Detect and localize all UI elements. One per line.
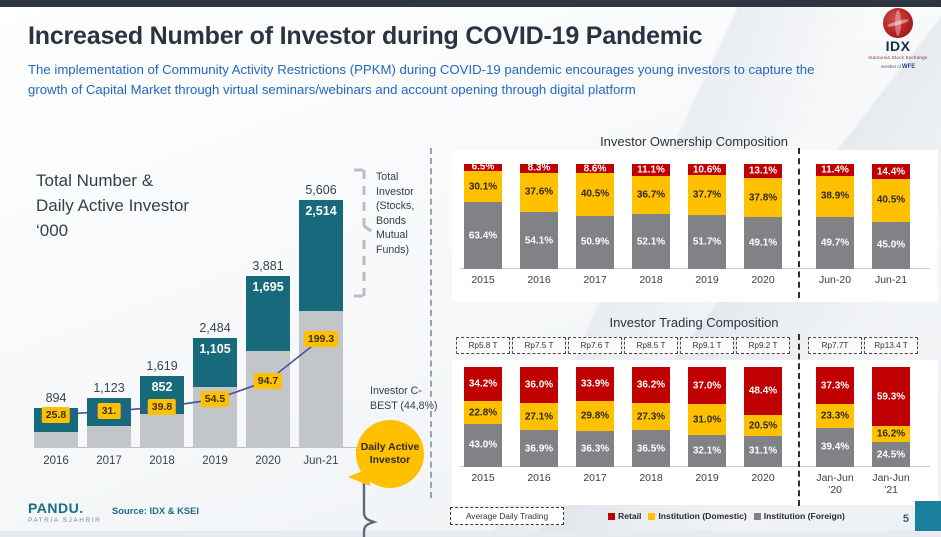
segment-value-institution-foreign: 39.4% — [816, 442, 854, 453]
bar-value-teal: 2,514 — [299, 204, 343, 218]
trading-chart-panel: 34.2%22.8%43.0%2015Rp5.8 T36.0%27.1%36.9… — [452, 360, 938, 505]
bar-segment-grey — [140, 414, 184, 448]
x-axis-label: 2019 — [676, 274, 738, 286]
segment-value-retail: 33.9% — [576, 378, 614, 389]
page-subtitle: The implementation of Community Activity… — [28, 60, 840, 100]
daily-active-value-2018: 39.8 — [148, 399, 176, 415]
daily-active-value-2016: 25.8 — [42, 407, 70, 423]
globe-icon — [883, 8, 913, 38]
brace-total-investor — [352, 168, 378, 298]
segment-value-institution-domestic: 23.3% — [816, 410, 854, 421]
x-axis-label: 2015 — [452, 472, 514, 484]
segment-institution-domestic: 36.7% — [632, 176, 670, 215]
segment-institution-foreign: 36.5% — [632, 430, 670, 467]
stacked-bar-jan-jun-20: 37.3%23.3%39.4%Jan-Jun’20 — [816, 367, 854, 467]
segment-value-institution-domestic: 27.1% — [520, 411, 558, 422]
source-note: Source: IDX & KSEI — [112, 505, 199, 516]
segment-institution-domestic: 22.8% — [464, 401, 502, 424]
segment-value-institution-foreign: 52.1% — [632, 236, 670, 247]
segment-retail: 8.6% — [576, 164, 614, 173]
segment-institution-foreign: 31.1% — [744, 436, 782, 467]
segment-institution-domestic: 37.7% — [688, 175, 726, 215]
legend-item-institution-foreign: Institution (Foreign) — [754, 511, 845, 521]
x-axis-label-line: 2017 — [564, 472, 626, 484]
segment-value-institution-domestic: 37.6% — [520, 187, 558, 198]
segment-retail: 36.2% — [632, 367, 670, 403]
corner-accent-block — [915, 501, 941, 531]
segment-value-retail: 37.3% — [816, 380, 854, 391]
segment-institution-foreign: 49.7% — [816, 217, 854, 269]
daily-active-value-jun-21: 199.3 — [304, 331, 338, 347]
segment-institution-domestic: 16.2% — [872, 426, 910, 442]
x-axis-label: 2018 — [132, 455, 192, 467]
bar-total-label: 1,123 — [79, 381, 139, 395]
segment-value-institution-foreign: 36.3% — [576, 443, 614, 454]
segment-institution-foreign: 45.0% — [872, 222, 910, 269]
stacked-bar-2020: 48.4%20.5%31.1%2020 — [744, 367, 782, 467]
ownership-chart-panel: 6.5%30.1%63.4%20158.3%37.6%54.1%20168.6%… — [452, 150, 938, 302]
segment-value-institution-domestic: 22.8% — [464, 407, 502, 418]
left-bar-jun-21: 5,6062,514Jun-21 — [299, 200, 343, 448]
x-axis-label: 2017 — [79, 455, 139, 467]
segment-value-institution-domestic: 29.8% — [576, 410, 614, 421]
segment-value-retail: 13.1% — [744, 165, 782, 176]
segment-retail: 36.0% — [520, 367, 558, 403]
stacked-bar-2015: 6.5%30.1%63.4%2015 — [464, 164, 502, 269]
ownership-chart-title: Investor Ownership Composition — [449, 134, 939, 149]
total-number-chart: Total Number & Daily Active Investor ‘00… — [18, 150, 422, 490]
wfe-logo-text: WFE — [902, 64, 915, 70]
segment-value-retail: 48.4% — [744, 386, 782, 397]
segment-institution-foreign: 36.9% — [520, 430, 558, 467]
daily-active-investor-bubble: Daily Active Investor — [356, 420, 424, 488]
segment-retail: 59.3% — [872, 367, 910, 426]
bar-segment-grey — [87, 426, 131, 448]
avg-daily-trading-value-2018: Rp8.5 T — [624, 337, 678, 354]
stacked-bar-2015: 34.2%22.8%43.0%2015 — [464, 367, 502, 467]
top-accent-bar — [0, 0, 941, 7]
bar-total-label: 5,606 — [291, 183, 351, 197]
segment-institution-domestic: 31.0% — [688, 404, 726, 435]
bar-value-teal: 1,695 — [246, 280, 290, 294]
wfe-member-label: member of — [881, 64, 901, 69]
segment-institution-foreign: 36.3% — [576, 431, 614, 467]
bar-total-label: 3,881 — [238, 259, 298, 273]
segment-institution-domestic: 40.5% — [576, 173, 614, 216]
bar-total-label: 2,484 — [185, 321, 245, 335]
x-axis-label: 2015 — [452, 274, 514, 286]
x-axis-label: 2016 — [508, 472, 570, 484]
legend-label-retail: Retail — [618, 511, 641, 521]
segment-value-institution-foreign: 49.1% — [744, 238, 782, 249]
segment-institution-foreign: 63.4% — [464, 202, 502, 269]
bottom-accent-bar — [0, 531, 941, 537]
bar-total-label: 1,619 — [132, 359, 192, 373]
avg-daily-trading-value-2016: Rp7.5 T — [512, 337, 566, 354]
segment-institution-domestic: 30.1% — [464, 171, 502, 203]
legend-label-institution-foreign: Institution (Foreign) — [764, 511, 845, 521]
segment-value-institution-domestic: 30.1% — [464, 181, 502, 192]
segment-retail: 10.6% — [688, 164, 726, 175]
callout-total-investor: Total Investor (Stocks, Bonds Mutual Fun… — [376, 170, 436, 257]
segment-value-retail: 36.0% — [520, 380, 558, 391]
pandu-logo: PANDU. PATRIA SJAHRIR — [28, 500, 101, 524]
pandu-wordmark: PANDU. — [28, 500, 101, 516]
segment-retail: 11.1% — [632, 164, 670, 176]
x-axis-label: Jun-21 — [860, 274, 922, 286]
stacked-bar-jun-21: 14.4%40.5%45.0%Jun-21 — [872, 164, 910, 269]
segment-institution-domestic: 23.3% — [816, 404, 854, 427]
x-axis-label-line: ’20 — [804, 484, 866, 496]
segment-value-retail: 11.1% — [632, 164, 670, 175]
x-axis-label: 2017 — [564, 472, 626, 484]
stacked-bar-2019: 10.6%37.7%51.7%2019 — [688, 164, 726, 269]
segment-value-retail: 37.0% — [688, 380, 726, 391]
segment-institution-domestic: 37.6% — [520, 173, 558, 212]
x-axis-label-line: 2020 — [732, 472, 794, 484]
segment-institution-domestic: 27.3% — [632, 403, 670, 430]
x-axis-label: 2020 — [732, 472, 794, 484]
segment-value-retail: 34.2% — [464, 379, 502, 390]
segment-value-institution-domestic: 27.3% — [632, 411, 670, 422]
bar-segment-teal: 1,695 — [246, 276, 290, 351]
stacked-bar-2018: 36.2%27.3%36.5%2018 — [632, 367, 670, 467]
x-axis-label-line: ’21 — [860, 484, 922, 496]
x-axis-label-line: 2018 — [620, 472, 682, 484]
legend-swatch-retail — [608, 513, 615, 520]
segment-retail: 37.3% — [816, 367, 854, 404]
segment-value-retail: 10.6% — [688, 164, 726, 175]
x-axis-label: 2019 — [185, 455, 245, 467]
avg-daily-trading-value-2019: Rp9.1 T — [680, 337, 734, 354]
avg-daily-trading-value-2017: Rp7.6 T — [568, 337, 622, 354]
vertical-dashed-divider — [430, 148, 432, 498]
segment-institution-foreign: 51.7% — [688, 215, 726, 269]
segment-value-institution-foreign: 24.5% — [872, 449, 910, 460]
stacked-bar-2016: 8.3%37.6%54.1%2016 — [520, 164, 558, 269]
bar-total-label: 894 — [26, 391, 86, 405]
segment-value-institution-foreign: 43.0% — [464, 440, 502, 451]
x-axis-label: Jan-Jun’21 — [860, 472, 922, 496]
wfe-member-mark: member of WFE — [867, 63, 929, 71]
period-separator — [798, 334, 800, 506]
segment-value-institution-domestic: 20.5% — [744, 420, 782, 431]
stacked-bar-2017: 33.9%29.8%36.3%2017 — [576, 367, 614, 467]
segment-value-institution-domestic: 36.7% — [632, 189, 670, 200]
page-number: 5 — [903, 513, 909, 525]
avg-daily-trading-value-2020: Rp9.2 T — [736, 337, 790, 354]
stacked-bar-2018: 11.1%36.7%52.1%2018 — [632, 164, 670, 269]
segment-institution-foreign: 50.9% — [576, 216, 614, 269]
segment-value-institution-domestic: 31.0% — [688, 414, 726, 425]
segment-retail: 48.4% — [744, 367, 782, 415]
x-axis-label: 2020 — [732, 274, 794, 286]
legend-item-institution-domestic: Institution (Domestic) — [648, 511, 746, 521]
x-axis-label: 2016 — [26, 455, 86, 467]
segment-retail: 11.4% — [816, 164, 854, 176]
x-axis-label: 2018 — [620, 274, 682, 286]
x-axis-label: Jan-Jun’20 — [804, 472, 866, 496]
segment-institution-foreign: 43.0% — [464, 424, 502, 467]
segment-retail: 34.2% — [464, 367, 502, 401]
legend-item-retail: Retail — [608, 511, 641, 521]
idx-wordmark: IDX — [867, 38, 929, 54]
stacked-bar-2019: 37.0%31.0%32.1%2019 — [688, 367, 726, 467]
legend-swatch-institution-foreign — [754, 513, 761, 520]
segment-value-institution-foreign: 36.9% — [520, 443, 558, 454]
segment-retail: 8.3% — [520, 164, 558, 173]
segment-value-institution-domestic: 16.2% — [872, 429, 910, 440]
trading-chart-legend: Retail Institution (Domestic) Institutio… — [608, 511, 845, 521]
segment-value-institution-foreign: 54.1% — [520, 235, 558, 246]
segment-retail: 13.1% — [744, 164, 782, 178]
segment-institution-foreign: 52.1% — [632, 214, 670, 269]
segment-value-institution-foreign: 36.5% — [632, 443, 670, 454]
segment-value-institution-domestic: 38.9% — [816, 191, 854, 202]
x-axis-label: 2018 — [620, 472, 682, 484]
segment-institution-foreign: 24.5% — [872, 442, 910, 467]
avg-daily-trading-value-2015: Rp5.8 T — [456, 337, 510, 354]
x-axis-label: 2017 — [564, 274, 626, 286]
x-axis-label: 2016 — [508, 274, 570, 286]
segment-institution-foreign: 54.1% — [520, 212, 558, 269]
idx-tagline: Indonesia Stock Exchange — [867, 54, 929, 61]
segment-value-institution-domestic: 37.7% — [688, 189, 726, 200]
x-axis-label-line: Jan-Jun — [804, 472, 866, 484]
bar-segment-teal: 2,514 — [299, 200, 343, 311]
bar-segment-teal: 1,105 — [193, 338, 237, 387]
bar-value-teal: 1,105 — [193, 342, 237, 356]
x-axis-label: Jun-21 — [291, 455, 351, 467]
segment-institution-domestic: 20.5% — [744, 415, 782, 436]
segment-value-institution-foreign: 31.1% — [744, 446, 782, 457]
pandu-subtitle: PATRIA SJAHRIR — [28, 517, 101, 524]
segment-retail: 33.9% — [576, 367, 614, 401]
page-title: Increased Number of Investor during COVI… — [28, 22, 828, 51]
idx-logo: IDX Indonesia Stock Exchange member of W… — [867, 8, 929, 74]
slide-canvas: Increased Number of Investor during COVI… — [0, 0, 941, 537]
segment-institution-domestic: 40.5% — [872, 179, 910, 222]
segment-value-retail: 59.3% — [872, 391, 910, 402]
average-daily-trading-note: Average Daily Trading — [450, 507, 564, 525]
segment-institution-domestic: 27.1% — [520, 403, 558, 430]
segment-institution-domestic: 37.8% — [744, 178, 782, 218]
stacked-bar-jan-jun-21: 59.3%16.2%24.5%Jan-Jun’21 — [872, 367, 910, 467]
segment-value-institution-foreign: 51.7% — [688, 236, 726, 247]
left-chart-heading-line1: Total Number & — [36, 168, 189, 193]
segment-retail: 14.4% — [872, 164, 910, 179]
segment-value-institution-domestic: 37.8% — [744, 192, 782, 203]
left-bar-2020: 3,8811,6952020 — [246, 276, 290, 448]
x-axis-label-line: 2016 — [508, 472, 570, 484]
segment-value-institution-domestic: 40.5% — [576, 189, 614, 200]
stacked-bar-2017: 8.6%40.5%50.9%2017 — [576, 164, 614, 269]
x-axis-label: 2020 — [238, 455, 298, 467]
bar-segment-grey — [246, 351, 290, 448]
segment-institution-domestic: 38.9% — [816, 176, 854, 217]
bar-value-teal: 852 — [140, 380, 184, 394]
x-axis-label: Jun-20 — [804, 274, 866, 286]
segment-retail: 6.5% — [464, 164, 502, 171]
avg-daily-trading-value-jan-jun-20: Rp7.7T — [808, 337, 862, 354]
segment-value-retail: 14.4% — [872, 166, 910, 177]
segment-retail: 37.0% — [688, 367, 726, 404]
segment-value-institution-foreign: 63.4% — [464, 230, 502, 241]
legend-swatch-institution-domestic — [648, 513, 655, 520]
segment-institution-foreign: 39.4% — [816, 428, 854, 467]
x-axis-label-line: 2019 — [676, 472, 738, 484]
segment-value-institution-foreign: 45.0% — [872, 240, 910, 251]
daily-active-value-2017: 31. — [98, 403, 121, 419]
stacked-bar-2016: 36.0%27.1%36.9%2016 — [520, 367, 558, 467]
segment-value-institution-foreign: 32.1% — [688, 446, 726, 457]
x-axis-label-line: 2015 — [452, 472, 514, 484]
x-axis-label-line: Jan-Jun — [860, 472, 922, 484]
segment-value-institution-domestic: 40.5% — [872, 195, 910, 206]
stacked-bar-jun-20: 11.4%38.9%49.7%Jun-20 — [816, 164, 854, 269]
legend-label-institution-domestic: Institution (Domestic) — [658, 511, 746, 521]
avg-daily-trading-value-jan-jun-21: Rp13.4 T — [864, 337, 918, 354]
segment-value-retail: 11.4% — [816, 164, 854, 175]
left-chart-plot: 894536201625.81,123628201731.1,619852201… — [34, 200, 354, 448]
trading-chart-title: Investor Trading Composition — [449, 315, 939, 330]
segment-institution-foreign: 32.1% — [688, 435, 726, 467]
daily-active-value-2020: 94.7 — [254, 373, 282, 389]
segment-institution-foreign: 49.1% — [744, 217, 782, 269]
segment-value-institution-foreign: 50.9% — [576, 237, 614, 248]
segment-value-retail: 36.2% — [632, 380, 670, 391]
segment-value-institution-foreign: 49.7% — [816, 237, 854, 248]
x-axis-label: 2019 — [676, 472, 738, 484]
stacked-bar-2020: 13.1%37.8%49.1%2020 — [744, 164, 782, 269]
daily-active-value-2019: 54.5 — [201, 391, 229, 407]
segment-institution-domestic: 29.8% — [576, 401, 614, 431]
average-daily-trading-label: Average Daily Trading — [466, 511, 548, 521]
period-separator — [798, 148, 800, 298]
bar-segment-grey — [34, 432, 78, 448]
